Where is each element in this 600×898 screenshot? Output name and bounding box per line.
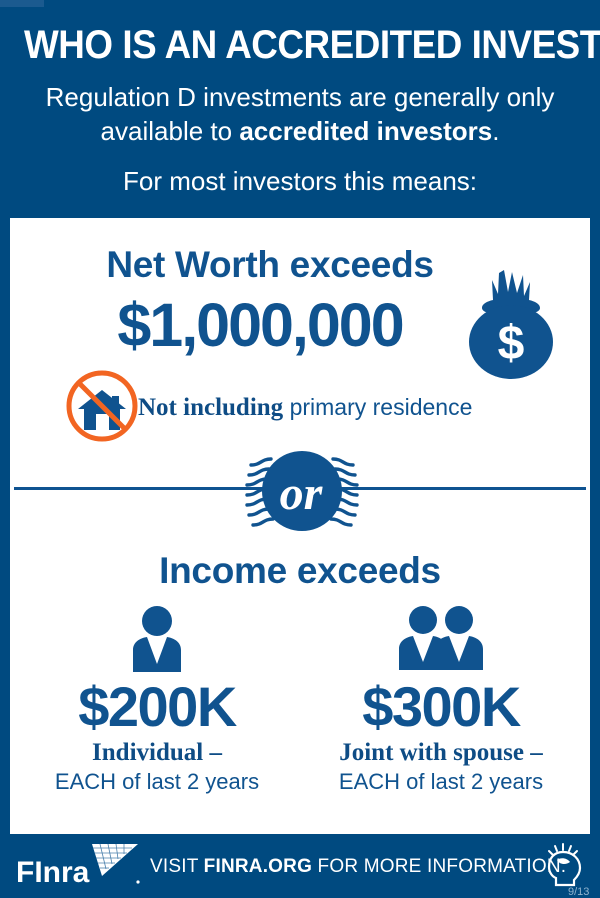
- lightbulb-head-icon: [540, 842, 586, 888]
- or-label: or: [280, 467, 324, 520]
- header-banner: WHO IS AN ACCREDITED INVESTOR? Regulatio…: [0, 0, 600, 218]
- income-title: Income exceeds: [10, 550, 590, 592]
- net-worth-note: Not including primary residence: [138, 394, 568, 422]
- footer-cta-post: FOR MORE INFORMATION.: [312, 856, 566, 877]
- svg-text:$: $: [498, 317, 525, 370]
- infographic-poster: WHO IS AN ACCREDITED INVESTOR? Regulatio…: [0, 0, 600, 898]
- footer-cta-text: VISIT FINRA.ORG FOR MORE INFORMATION.: [150, 856, 566, 878]
- footer-cta-url[interactable]: FINRA.ORG: [204, 856, 312, 877]
- finra-wordmark: FInra: [16, 856, 90, 889]
- page-title: WHO IS AN ACCREDITED INVESTOR?: [24, 22, 576, 68]
- footer-cta-pre: VISIT: [150, 856, 204, 877]
- no-house-icon: [62, 366, 142, 446]
- content-card: Net Worth exceeds $1,000,000 $ Not inclu…: [10, 218, 590, 834]
- joint-label: Joint with spouse –: [306, 738, 576, 768]
- or-badge-icon: or: [237, 443, 367, 538]
- single-person-icon: [125, 604, 189, 672]
- individual-label: Individual –: [22, 738, 292, 768]
- header-note: For most investors this means:: [0, 166, 600, 197]
- income-column-individual: $200K Individual – EACH of last 2 years: [22, 604, 292, 796]
- single-person-icon-wrap: [22, 604, 292, 674]
- footer-bar: FInra VISIT FINRA.ORG FOR MORE INFORMATI…: [0, 834, 600, 898]
- net-worth-note-rest: primary residence: [283, 394, 472, 420]
- income-column-joint: $300K Joint with spouse – EACH of last 2…: [306, 604, 576, 796]
- individual-sub: EACH of last 2 years: [22, 768, 292, 796]
- two-people-icon-wrap: [306, 604, 576, 674]
- net-worth-amount: $1,000,000: [50, 290, 470, 360]
- header-subtitle: Regulation D investments are generally o…: [12, 80, 588, 148]
- joint-sub: EACH of last 2 years: [306, 768, 576, 796]
- money-bag-icon: $: [456, 266, 566, 381]
- two-people-icon: [393, 604, 489, 672]
- finra-pennant-icon: [92, 844, 138, 876]
- finra-logo[interactable]: FInra: [14, 842, 144, 890]
- joint-amount: $300K: [306, 676, 576, 738]
- header-subtitle-post: .: [492, 116, 499, 146]
- page-number: 9/13: [568, 886, 589, 898]
- net-worth-note-bold: Not including: [138, 394, 283, 421]
- header-subtitle-emphasis: accredited investors: [239, 116, 492, 146]
- net-worth-title: Net Worth exceeds: [70, 244, 470, 286]
- individual-amount: $200K: [22, 676, 292, 738]
